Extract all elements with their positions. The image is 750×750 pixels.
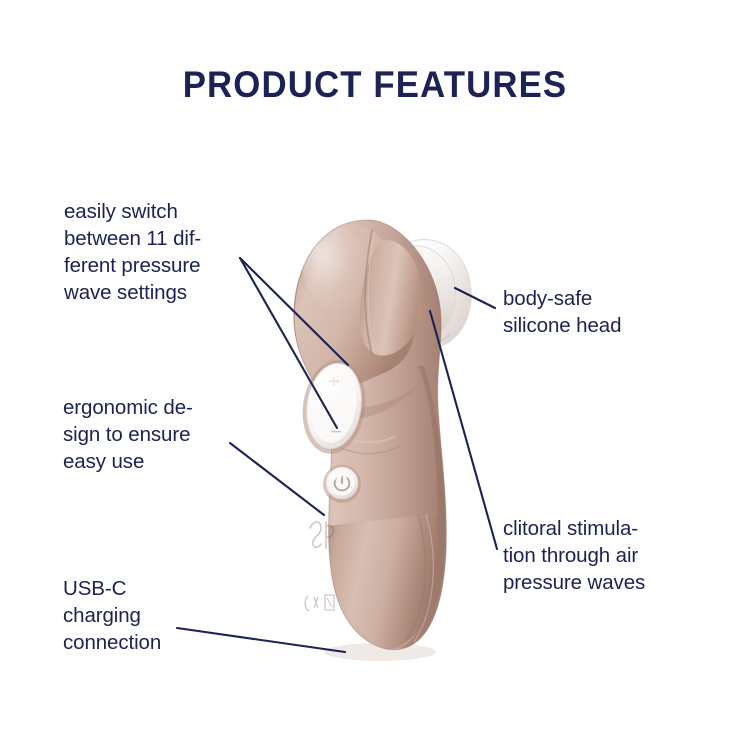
callout-label-silicone: body-safe silicone head xyxy=(503,285,703,339)
callout-label-clitoral: clitoral stimula- tion through air press… xyxy=(503,515,718,596)
callout-label-ergonomic: ergonomic de- sign to ensure easy use xyxy=(63,394,253,475)
minus-icon[interactable] xyxy=(332,431,342,433)
product-illustration xyxy=(268,196,498,666)
callout-label-settings: easily switch between 11 dif- ferent pre… xyxy=(64,198,254,306)
infographic-canvas: PRODUCT FEATURES xyxy=(0,0,750,750)
regulatory-marks-icon xyxy=(305,595,334,611)
page-title: PRODUCT FEATURES xyxy=(23,64,728,106)
power-button[interactable] xyxy=(323,465,361,503)
callout-label-usbc: USB-C charging connection xyxy=(63,575,238,656)
